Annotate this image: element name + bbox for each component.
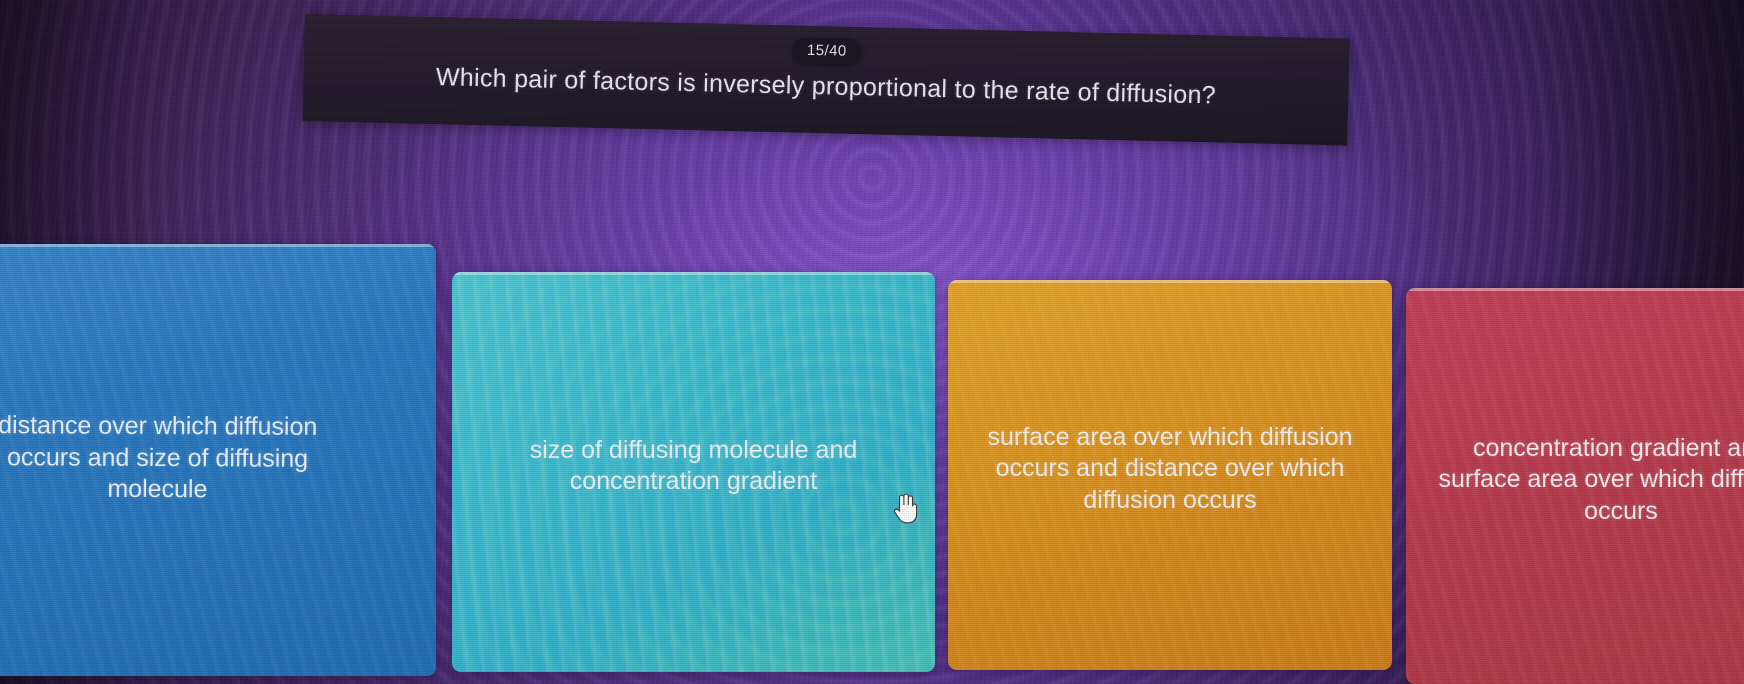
answer-option-c[interactable]: surface area over which diffusion occurs… [948,280,1392,670]
card-top-highlight [1406,288,1744,291]
question-counter-badge: 15/40 [792,37,862,65]
answer-option-d-label: concentration gradient and surface area … [1422,433,1744,528]
card-top-highlight [948,280,1392,283]
card-top-highlight [0,244,436,247]
answer-option-a-label: distance over which diffusion occurs and… [0,410,334,506]
answer-option-b[interactable]: size of diffusing molecule and concentra… [452,272,935,672]
answer-option-d[interactable]: concentration gradient and surface area … [1406,288,1744,684]
card-top-highlight [452,272,935,275]
answer-option-c-label: surface area over which diffusion occurs… [971,422,1368,517]
answer-option-b-label: size of diffusing molecule and concentra… [514,435,874,498]
quiz-screen: 15/40 Which pair of factors is inversely… [0,0,1744,684]
answer-option-a[interactable]: distance over which diffusion occurs and… [0,244,436,676]
